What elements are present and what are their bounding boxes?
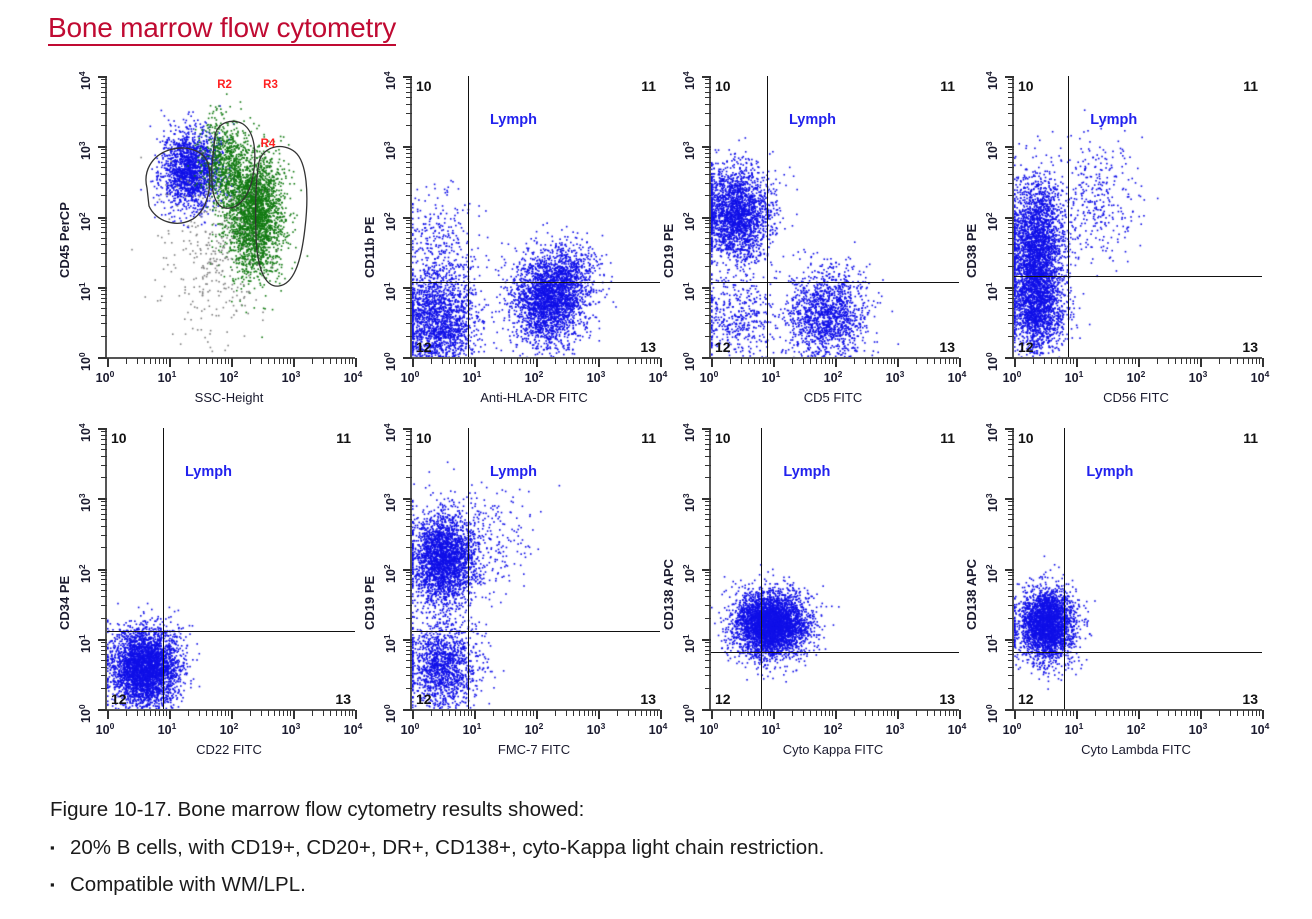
x-tick-major xyxy=(598,358,600,367)
y-tick-minor xyxy=(406,572,412,573)
y-tick-major xyxy=(702,357,711,359)
quadrant-vertical-line xyxy=(761,428,762,709)
x-tick-minor xyxy=(341,710,342,716)
y-tick-minor xyxy=(705,456,711,457)
y-tick-minor xyxy=(705,294,711,295)
x-tick-minor xyxy=(1252,358,1253,364)
x-tick-minor xyxy=(261,358,262,364)
x-tick-major xyxy=(1076,710,1078,719)
y-tick-minor xyxy=(705,449,711,450)
y-tick-label: 102 xyxy=(77,212,93,231)
y-tick-minor xyxy=(406,675,412,676)
quadrant-label-bl: 12 xyxy=(416,691,432,707)
y-tick-minor xyxy=(406,195,412,196)
x-tick-minor xyxy=(188,358,189,364)
y-tick-minor xyxy=(705,579,711,580)
x-tick-minor xyxy=(854,358,855,364)
y-tick-label: 101 xyxy=(77,282,93,301)
y-tick-minor xyxy=(705,477,711,478)
y-tick-minor xyxy=(406,444,412,445)
x-tick-minor xyxy=(940,358,941,364)
x-tick-minor xyxy=(330,710,331,716)
y-tick-minor xyxy=(705,162,711,163)
x-tick-major xyxy=(959,358,961,367)
quadrant-label-tr: 11 xyxy=(940,78,955,94)
x-tick-major xyxy=(1200,358,1202,367)
x-tick-minor xyxy=(530,358,531,364)
y-tick-major xyxy=(1005,428,1014,430)
x-tick-minor xyxy=(1124,710,1125,716)
y-tick-minor xyxy=(705,667,711,668)
y-tick-minor xyxy=(1008,535,1014,536)
y-tick-minor xyxy=(101,157,107,158)
x-tick-minor xyxy=(865,710,866,716)
quadrant-vertical-line xyxy=(163,428,164,709)
x-tick-label: 101 xyxy=(158,721,177,737)
x-axis-title: CD5 FITC xyxy=(804,390,863,405)
y-tick-major xyxy=(403,287,412,289)
y-tick-minor xyxy=(406,579,412,580)
y-tick-major xyxy=(403,76,412,78)
y-tick-minor xyxy=(101,646,107,647)
y-tick-minor xyxy=(406,505,412,506)
x-tick-label: 100 xyxy=(700,369,719,385)
x-tick-minor xyxy=(283,710,284,716)
y-tick-minor xyxy=(101,605,107,606)
x-tick-minor xyxy=(1230,710,1231,716)
y-tick-minor xyxy=(101,315,107,316)
x-tick-minor xyxy=(1033,358,1034,364)
x-tick-minor xyxy=(212,710,213,716)
x-axis-title: Anti-HLA-DR FITC xyxy=(480,390,588,405)
x-tick-label: 101 xyxy=(1065,721,1084,737)
y-tick-minor xyxy=(406,87,412,88)
x-tick-minor xyxy=(854,710,855,716)
y-tick-label: 104 xyxy=(681,423,697,442)
x-tick-minor xyxy=(137,358,138,364)
y-tick-major xyxy=(98,76,107,78)
quadrant-label-tr: 11 xyxy=(1243,78,1258,94)
x-tick-minor xyxy=(810,710,811,716)
y-tick-major xyxy=(98,287,107,289)
y-tick-minor xyxy=(1008,519,1014,520)
quadrant-label-br: 13 xyxy=(640,691,656,707)
x-tick-minor xyxy=(493,710,494,716)
x-tick-major xyxy=(835,358,837,367)
x-tick-minor xyxy=(1057,710,1058,716)
y-tick-minor xyxy=(1008,465,1014,466)
y-tick-label: 103 xyxy=(681,142,697,161)
y-tick-minor xyxy=(406,167,412,168)
x-tick-major xyxy=(1138,358,1140,367)
y-tick-major xyxy=(98,498,107,500)
x-tick-minor xyxy=(166,710,167,716)
y-tick-minor xyxy=(1008,104,1014,105)
x-tick-label: 103 xyxy=(1189,369,1208,385)
bullet-text: Compatible with WM/LPL. xyxy=(70,870,306,900)
y-tick-major xyxy=(98,217,107,219)
quadrant-label-tr: 11 xyxy=(336,430,351,446)
x-tick-minor xyxy=(927,710,928,716)
x-tick-major xyxy=(1138,710,1140,719)
x-tick-major xyxy=(107,710,109,719)
x-tick-minor xyxy=(345,710,346,716)
x-tick-major xyxy=(959,710,961,719)
x-tick-minor xyxy=(1168,710,1169,716)
x-tick-major xyxy=(598,710,600,719)
y-axis-title: CD138 APC xyxy=(661,559,676,630)
x-tick-minor xyxy=(1057,358,1058,364)
y-tick-minor xyxy=(1008,298,1014,299)
quadrant-horizontal-line xyxy=(711,282,959,283)
y-tick-minor xyxy=(1008,83,1014,84)
y-tick-minor xyxy=(406,509,412,510)
y-tick-minor xyxy=(1008,590,1014,591)
y-tick-minor xyxy=(101,444,107,445)
x-tick-minor xyxy=(654,710,655,716)
y-tick-minor xyxy=(101,79,107,80)
x-tick-minor xyxy=(431,358,432,364)
x-tick-label: 104 xyxy=(1251,721,1270,737)
population-label-lymph: Lymph xyxy=(490,112,537,128)
bullet-text: 20% B cells, with CD19+, CD20+, DR+, CD1… xyxy=(70,833,824,863)
x-tick-minor xyxy=(1256,358,1257,364)
y-tick-minor xyxy=(406,157,412,158)
population-label-lymph: Lymph xyxy=(1086,464,1133,480)
x-tick-minor xyxy=(878,710,879,716)
quadrant-label-tl: 10 xyxy=(715,78,731,94)
y-tick-minor xyxy=(705,435,711,436)
y-tick-minor xyxy=(406,183,412,184)
scatter-dots xyxy=(1014,428,1262,709)
x-tick-minor xyxy=(1230,358,1231,364)
x-tick-minor xyxy=(1033,710,1034,716)
quadrant-label-bl: 12 xyxy=(1018,339,1034,355)
x-tick-minor xyxy=(872,358,873,364)
x-tick-minor xyxy=(916,358,917,364)
x-tick-minor xyxy=(595,710,596,716)
y-tick-minor xyxy=(406,336,412,337)
y-tick-minor xyxy=(1008,505,1014,506)
x-axis-title: CD56 FITC xyxy=(1103,390,1169,405)
x-tick-minor xyxy=(279,358,280,364)
y-tick-major xyxy=(702,498,711,500)
x-tick-minor xyxy=(891,358,892,364)
list-item: ▪ Compatible with WM/LPL. xyxy=(50,870,1230,900)
y-tick-minor xyxy=(705,514,711,515)
caption-lead: Figure 10-17. Bone marrow flow cytometry… xyxy=(50,795,1230,825)
plot-area: R2R3R4 xyxy=(105,76,355,359)
gate-region-R4 xyxy=(256,147,307,287)
y-tick-minor xyxy=(705,646,711,647)
y-tick-minor xyxy=(1008,444,1014,445)
x-tick-minor xyxy=(206,710,207,716)
y-tick-minor xyxy=(101,572,107,573)
x-tick-label: 104 xyxy=(649,721,668,737)
y-axis-title: CD34 PE xyxy=(57,576,72,630)
y-tick-minor xyxy=(406,650,412,651)
y-tick-minor xyxy=(101,244,107,245)
y-tick-minor xyxy=(406,439,412,440)
x-tick-minor xyxy=(832,358,833,364)
x-tick-minor xyxy=(953,710,954,716)
gate-label-R2: R2 xyxy=(217,79,232,91)
y-tick-major xyxy=(1005,146,1014,148)
x-tick-minor xyxy=(953,358,954,364)
y-tick-minor xyxy=(705,266,711,267)
y-tick-minor xyxy=(1008,654,1014,655)
x-tick-minor xyxy=(872,710,873,716)
y-tick-minor xyxy=(101,87,107,88)
y-tick-minor xyxy=(101,519,107,520)
y-tick-minor xyxy=(705,220,711,221)
y-tick-minor xyxy=(406,449,412,450)
x-tick-minor xyxy=(349,710,350,716)
x-tick-minor xyxy=(628,358,629,364)
x-tick-minor xyxy=(155,358,156,364)
x-tick-minor xyxy=(821,358,822,364)
x-tick-minor xyxy=(945,358,946,364)
quadrant-horizontal-line xyxy=(1014,276,1262,277)
x-tick-major xyxy=(835,710,837,719)
y-tick-label: 102 xyxy=(681,564,697,583)
x-tick-minor xyxy=(646,358,647,364)
y-tick-minor xyxy=(1008,244,1014,245)
x-tick-minor xyxy=(584,710,585,716)
y-tick-label: 101 xyxy=(382,282,398,301)
x-tick-minor xyxy=(352,710,353,716)
y-tick-minor xyxy=(1008,547,1014,548)
x-tick-label: 102 xyxy=(1127,369,1146,385)
y-axis-title: CD45 PerCP xyxy=(57,202,72,278)
y-tick-minor xyxy=(101,220,107,221)
x-tick-minor xyxy=(650,710,651,716)
y-tick-minor xyxy=(101,431,107,432)
y-tick-minor xyxy=(1008,431,1014,432)
x-tick-minor xyxy=(212,358,213,364)
y-tick-minor xyxy=(406,514,412,515)
x-tick-minor xyxy=(1066,710,1067,716)
x-tick-minor xyxy=(592,710,593,716)
y-tick-minor xyxy=(705,336,711,337)
y-tick-major xyxy=(1005,357,1014,359)
y-tick-minor xyxy=(1008,315,1014,316)
y-tick-minor xyxy=(705,167,711,168)
x-tick-minor xyxy=(464,710,465,716)
x-tick-minor xyxy=(940,710,941,716)
quadrant-label-br: 13 xyxy=(939,691,955,707)
y-tick-major xyxy=(98,569,107,571)
x-tick-minor xyxy=(345,358,346,364)
y-tick-minor xyxy=(1008,92,1014,93)
y-tick-minor xyxy=(101,302,107,303)
x-tick-minor xyxy=(573,710,574,716)
x-tick-minor xyxy=(517,358,518,364)
y-tick-minor xyxy=(705,501,711,502)
x-tick-label: 103 xyxy=(1189,721,1208,737)
page-title-text: Bone marrow flow cytometry xyxy=(48,12,396,46)
x-tick-minor xyxy=(579,710,580,716)
y-tick-minor xyxy=(101,294,107,295)
x-tick-minor xyxy=(449,710,450,716)
x-tick-minor xyxy=(144,358,145,364)
y-tick-label: 104 xyxy=(77,71,93,90)
y-tick-minor xyxy=(1008,227,1014,228)
x-tick-major xyxy=(1076,358,1078,367)
y-tick-minor xyxy=(101,83,107,84)
x-tick-label: 103 xyxy=(282,369,301,385)
y-tick-minor xyxy=(705,174,711,175)
x-tick-minor xyxy=(1135,710,1136,716)
x-tick-minor xyxy=(228,358,229,364)
x-tick-major xyxy=(1262,358,1264,367)
x-axis-title: Cyto Lambda FITC xyxy=(1081,742,1191,757)
population-label-lymph: Lymph xyxy=(783,464,830,480)
y-tick-minor xyxy=(101,232,107,233)
y-tick-minor xyxy=(705,253,711,254)
y-tick-minor xyxy=(1008,660,1014,661)
x-tick-minor xyxy=(206,358,207,364)
y-tick-minor xyxy=(101,298,107,299)
plot-area: 10111213Lymph xyxy=(709,428,959,711)
y-tick-minor xyxy=(1008,167,1014,168)
y-tick-minor xyxy=(406,244,412,245)
x-tick-minor xyxy=(825,710,826,716)
y-tick-label: 102 xyxy=(382,212,398,231)
x-tick-minor xyxy=(566,358,567,364)
quadrant-horizontal-line xyxy=(711,652,959,653)
y-tick-minor xyxy=(705,83,711,84)
x-tick-minor xyxy=(949,710,950,716)
y-tick-minor xyxy=(1008,220,1014,221)
y-tick-major xyxy=(702,639,711,641)
y-tick-minor xyxy=(705,535,711,536)
y-tick-minor xyxy=(406,465,412,466)
y-tick-minor xyxy=(406,253,412,254)
y-tick-major xyxy=(403,428,412,430)
y-axis-title: CD19 PE xyxy=(661,224,676,278)
x-tick-minor xyxy=(460,358,461,364)
y-tick-label: 102 xyxy=(681,212,697,231)
y-tick-minor xyxy=(705,650,711,651)
quadrant-label-bl: 12 xyxy=(111,691,127,707)
y-tick-minor xyxy=(406,688,412,689)
y-tick-minor xyxy=(1008,162,1014,163)
x-tick-minor xyxy=(741,710,742,716)
x-tick-minor xyxy=(754,710,755,716)
y-tick-minor xyxy=(1008,238,1014,239)
x-tick-label: 101 xyxy=(1065,369,1084,385)
y-tick-minor xyxy=(705,149,711,150)
quadrant-horizontal-line xyxy=(1014,652,1262,653)
x-tick-minor xyxy=(832,710,833,716)
scatter-dots xyxy=(711,428,959,709)
x-tick-minor xyxy=(166,358,167,364)
y-tick-minor xyxy=(705,509,711,510)
x-tick-minor xyxy=(228,710,229,716)
x-tick-minor xyxy=(274,710,275,716)
x-tick-minor xyxy=(1252,710,1253,716)
x-tick-minor xyxy=(821,710,822,716)
y-tick-minor xyxy=(1008,449,1014,450)
x-tick-minor xyxy=(225,358,226,364)
x-tick-minor xyxy=(617,710,618,716)
y-tick-label: 101 xyxy=(681,282,697,301)
y-tick-label: 100 xyxy=(382,704,398,723)
y-tick-label: 103 xyxy=(984,142,1000,161)
y-tick-minor xyxy=(1008,501,1014,502)
x-tick-minor xyxy=(887,710,888,716)
x-tick-minor xyxy=(1070,358,1071,364)
y-tick-minor xyxy=(705,195,711,196)
y-tick-minor xyxy=(705,444,711,445)
x-tick-minor xyxy=(1237,710,1238,716)
y-tick-minor xyxy=(406,79,412,80)
x-tick-major xyxy=(474,710,476,719)
y-tick-label: 103 xyxy=(382,142,398,161)
x-tick-minor xyxy=(641,358,642,364)
population-label-lymph: Lymph xyxy=(490,464,537,480)
x-tick-minor xyxy=(1168,358,1169,364)
y-tick-minor xyxy=(101,449,107,450)
x-tick-label: 102 xyxy=(1127,721,1146,737)
x-tick-major xyxy=(711,710,713,719)
x-tick-minor xyxy=(1175,710,1176,716)
quadrant-vertical-line xyxy=(767,76,768,357)
y-tick-major xyxy=(403,357,412,359)
y-tick-minor xyxy=(705,590,711,591)
y-axis-title: CD19 PE xyxy=(362,576,377,630)
x-tick-minor xyxy=(1259,358,1260,364)
x-tick-minor xyxy=(460,710,461,716)
y-tick-minor xyxy=(1008,650,1014,651)
y-tick-minor xyxy=(406,660,412,661)
x-tick-minor xyxy=(471,358,472,364)
x-tick-minor xyxy=(1113,358,1114,364)
x-tick-minor xyxy=(588,358,589,364)
y-tick-label: 103 xyxy=(382,494,398,513)
quadrant-label-br: 13 xyxy=(1242,691,1258,707)
plot-area: 10111213Lymph xyxy=(410,76,660,359)
y-tick-label: 102 xyxy=(984,564,1000,583)
x-tick-minor xyxy=(883,710,884,716)
y-tick-minor xyxy=(406,323,412,324)
y-tick-minor xyxy=(705,618,711,619)
y-tick-minor xyxy=(101,253,107,254)
y-tick-minor xyxy=(406,113,412,114)
x-tick-minor xyxy=(349,358,350,364)
x-tick-label: 100 xyxy=(1003,721,1022,737)
y-tick-minor xyxy=(101,266,107,267)
y-tick-minor xyxy=(705,688,711,689)
x-tick-label: 100 xyxy=(96,369,115,385)
x-tick-label: 103 xyxy=(282,721,301,737)
y-tick-minor xyxy=(1008,232,1014,233)
x-tick-minor xyxy=(126,358,127,364)
x-tick-minor xyxy=(1095,358,1096,364)
y-tick-label: 100 xyxy=(681,352,697,371)
x-tick-minor xyxy=(455,358,456,364)
quadrant-label-tl: 10 xyxy=(111,430,127,446)
y-tick-minor xyxy=(705,104,711,105)
x-tick-label: 104 xyxy=(649,369,668,385)
list-item: ▪ 20% B cells, with CD19+, CD20+, DR+, C… xyxy=(50,833,1230,863)
x-tick-minor xyxy=(150,358,151,364)
x-tick-minor xyxy=(431,710,432,716)
y-tick-minor xyxy=(406,431,412,432)
x-tick-minor xyxy=(595,358,596,364)
x-tick-minor xyxy=(511,710,512,716)
